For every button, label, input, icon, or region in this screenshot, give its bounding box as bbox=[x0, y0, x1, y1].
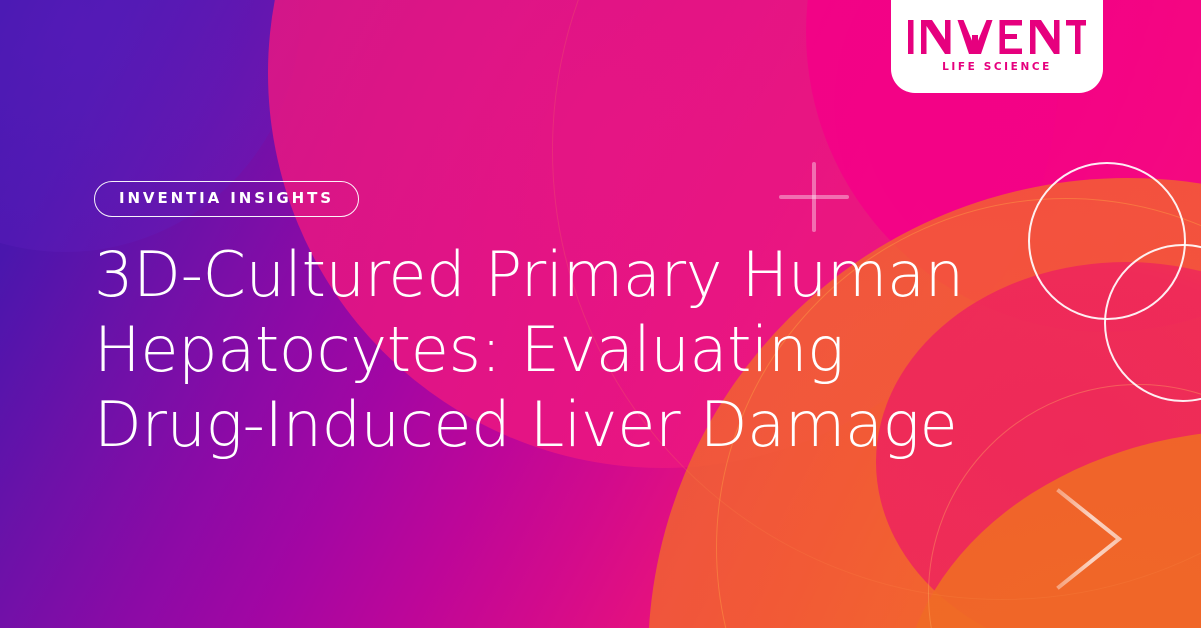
arrow-right-icon bbox=[986, 484, 1136, 594]
circle-outline-icon-upper bbox=[1028, 162, 1186, 320]
eyebrow-badge: INVENTIA INSIGHTS bbox=[94, 181, 359, 217]
headline-line-2: Hepatocytes: Evaluating bbox=[94, 312, 924, 387]
circle-outline-icon-lower bbox=[1104, 244, 1201, 402]
headline-line-3: Drug-Induced Liver Damage bbox=[94, 387, 924, 462]
inventia-logo-card: LIFE SCIENCE bbox=[891, 0, 1103, 93]
insights-banner: LIFE SCIENCE INVENTIA INSIGHTS 3D-Cultur… bbox=[0, 0, 1201, 628]
inventia-logo-tagline: LIFE SCIENCE bbox=[942, 61, 1052, 73]
banner-headline: 3D-Cultured Primary Human Hepatocytes: E… bbox=[94, 217, 924, 462]
headline-line-1: 3D-Cultured Primary Human bbox=[94, 237, 924, 312]
inventia-wordmark-logo bbox=[908, 20, 1086, 54]
banner-content: INVENTIA INSIGHTS 3D-Cultured Primary Hu… bbox=[94, 181, 924, 462]
background-arc-small bbox=[928, 384, 1201, 628]
